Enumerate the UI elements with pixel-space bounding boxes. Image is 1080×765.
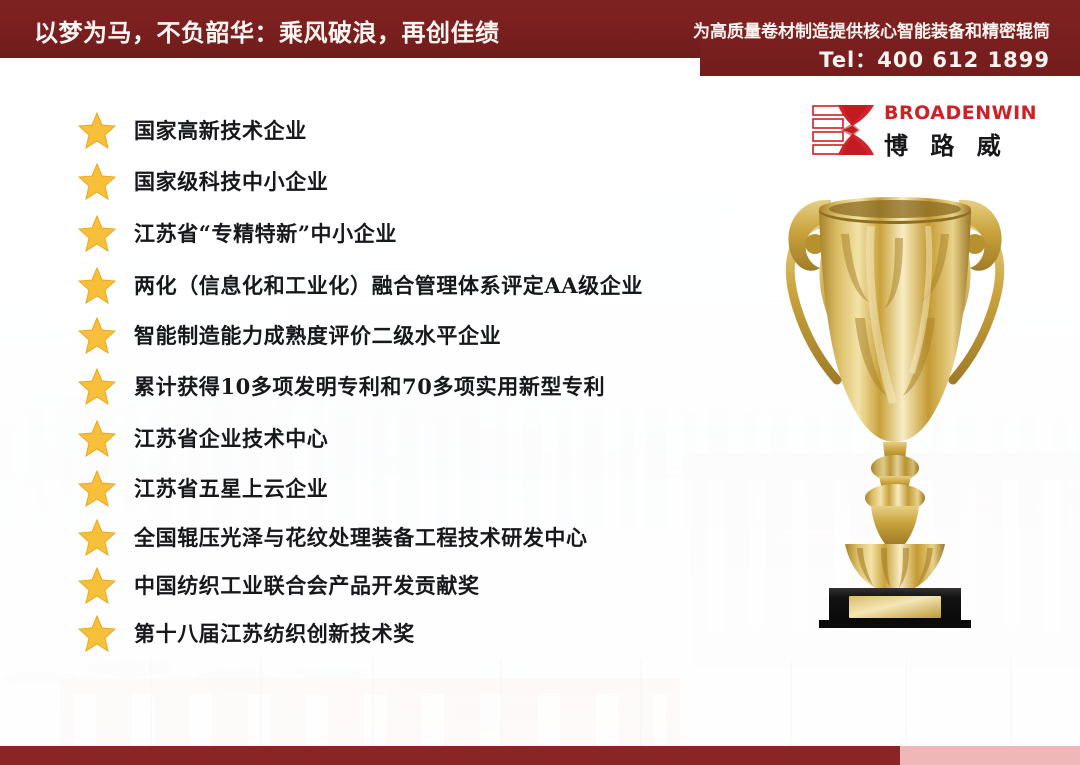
list-item: 江苏省企业技术中心	[78, 412, 818, 463]
list-item: 全国辊压光泽与花纹处理装备工程技术研发中心	[78, 513, 818, 561]
list-item-label: 中国纺织工业联合会产品开发贡献奖	[134, 570, 480, 600]
logo-wordmark: BROADENWIN	[884, 102, 1037, 124]
list-item-label: 江苏省“专精特新”中小企业	[134, 218, 397, 248]
header-banner: 以梦为马，不负韶华：乘风破浪，再创佳绩 为高质量卷材制造提供核心智能装备和精密辊…	[0, 0, 1080, 76]
list-item-label: 第十八届江苏纺织创新技术奖	[134, 618, 415, 648]
broadenwin-k-mark-icon	[812, 104, 878, 156]
list-item-label: 智能制造能力成熟度评价二级水平企业	[134, 320, 501, 350]
list-item-label: 全国辊压光泽与花纹处理装备工程技术研发中心	[134, 522, 588, 552]
header-telephone: Tel：400 612 1899	[600, 44, 1050, 74]
list-item-label: 两化（信息化和工业化）融合管理体系评定AA级企业	[134, 270, 643, 300]
gold-star-icon	[78, 566, 116, 604]
list-item: 智能制造能力成熟度评价二级水平企业	[78, 310, 818, 360]
list-item: 累计获得10多项发明专利和70多项实用新型专利	[78, 360, 818, 412]
gold-star-icon	[78, 266, 116, 304]
list-item: 中国纺织工业联合会产品开发贡献奖	[78, 561, 818, 609]
gold-star-icon	[78, 316, 116, 354]
list-item: 江苏省五星上云企业	[78, 463, 818, 513]
gold-star-icon	[78, 214, 116, 252]
list-item-label: 江苏省五星上云企业	[134, 473, 328, 503]
achievement-list: 国家高新技术企业 国家级科技中小企业 江苏省“专精特新”中小企业 两化（信息化和…	[78, 104, 818, 657]
promo-poster: 以梦为马，不负韶华：乘风破浪，再创佳绩 为高质量卷材制造提供核心智能装备和精密辊…	[0, 0, 1080, 765]
list-item: 江苏省“专精特新”中小企业	[78, 206, 818, 259]
list-item: 国家高新技术企业	[78, 104, 818, 155]
gold-star-icon	[78, 614, 116, 652]
list-item-label: 累计获得10多项发明专利和70多项实用新型专利	[134, 371, 605, 401]
footer-bar-dark	[0, 746, 900, 765]
list-item: 两化（信息化和工业化）融合管理体系评定AA级企业	[78, 259, 818, 310]
company-logo: BROADENWIN 博 路 威	[812, 100, 992, 162]
header-slogan-left: 以梦为马，不负韶华：乘风破浪，再创佳绩	[34, 13, 500, 48]
gold-star-icon	[78, 162, 116, 200]
list-item-label: 国家高新技术企业	[134, 115, 307, 145]
header-slogan-right: 为高质量卷材制造提供核心智能装备和精密辊筒	[600, 17, 1050, 42]
list-item: 第十八届江苏纺织创新技术奖	[78, 609, 818, 657]
gold-star-icon	[78, 367, 116, 405]
list-item-label: 江苏省企业技术中心	[134, 423, 328, 453]
gold-star-icon	[78, 419, 116, 457]
gold-star-icon	[78, 518, 116, 556]
logo-wordmark-cn: 博 路 威	[884, 126, 1008, 161]
gold-star-icon	[78, 469, 116, 507]
gold-star-icon	[78, 111, 116, 149]
footer-bar	[0, 746, 1080, 765]
list-item: 国家级科技中小企业	[78, 155, 818, 206]
footer-bar-light	[900, 746, 1080, 765]
list-item-label: 国家级科技中小企业	[134, 166, 328, 196]
